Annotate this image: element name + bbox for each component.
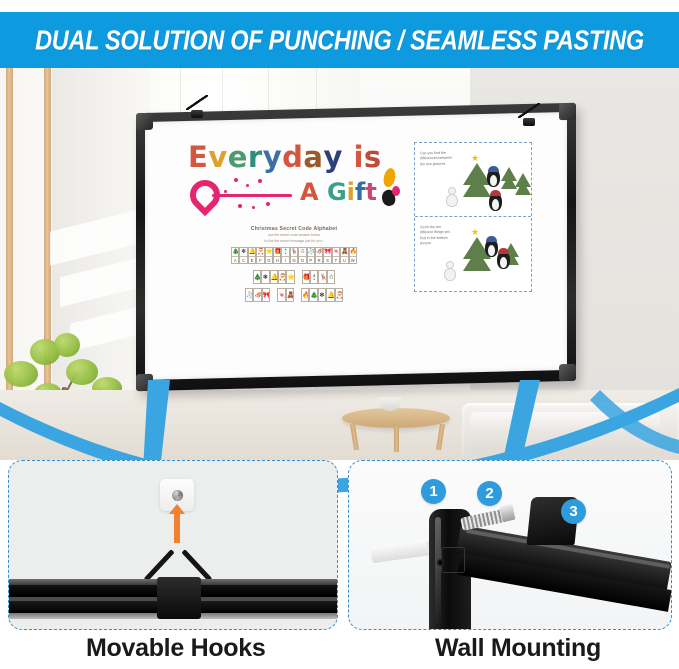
alphabet-picture-icon: 🕯: [282, 248, 288, 256]
alphabet-letter: T: [333, 256, 339, 263]
alphabet-code-cell: ❄C: [239, 247, 247, 264]
screw-icon: [172, 490, 183, 501]
snowman-body: [446, 194, 458, 207]
alphabet-word-rows: 🎄❄🔔🎅⭐🎁🕯🦌☃🧦🛷🎀🍬🧸🔥🎄❄🔔🎅: [218, 270, 370, 302]
plant-foliage: [54, 333, 80, 357]
alphabet-picture-icon: ☃: [299, 248, 305, 256]
alphabet-word-cell: 🕯: [310, 270, 318, 284]
alphabet-word-cell: 🍬: [277, 288, 285, 302]
alphabet-word-group: 🧦🛷🎀: [245, 288, 270, 302]
penguin-belly: [492, 199, 499, 210]
alphabet-picture-icon: 🎄: [232, 248, 238, 256]
headline-letter: v: [208, 140, 227, 174]
step-badge-3: 3: [561, 499, 586, 524]
alphabet-picture-icon: 🔔: [249, 248, 255, 256]
headline-letter: a: [303, 140, 323, 174]
alphabet-word-group: 🍬🧸: [277, 288, 294, 302]
snowman-icon: [445, 187, 459, 207]
screw-head: [499, 504, 515, 522]
wall-plug-icon: [370, 539, 434, 563]
headline-letter: A: [300, 178, 319, 206]
alphabet-worksheet: Christmas Secret Code Alphabet use the s…: [218, 226, 370, 318]
caption-movable-hooks: Movable Hooks: [86, 634, 265, 663]
up-arrow-icon: [174, 513, 180, 543]
alphabet-word-group: 🎁🕯🦌☃: [302, 270, 336, 284]
alphabet-code-cell: 🍬T: [332, 247, 340, 264]
penguin-belly: [500, 257, 507, 268]
swirl-dot: [234, 178, 238, 182]
alphabet-picture-icon: 🦌: [291, 248, 297, 256]
triangle-wire-hook-icon: [147, 543, 209, 581]
headline-letter: i: [347, 178, 355, 206]
alphabet-picture-icon: 🎀: [324, 248, 330, 256]
swirl-dot: [246, 184, 249, 187]
alphabet-subtitle-1: use the secret code breaker below: [218, 233, 370, 238]
headline-line-1: Everyday is: [188, 140, 403, 174]
alphabet-word-row: 🎄❄🔔🎅⭐🎁🕯🦌☃: [218, 270, 370, 284]
caption-wall-mounting: Wall Mounting: [435, 634, 601, 663]
snowman-body: [444, 268, 456, 281]
alphabet-word-cell: 🎀: [262, 288, 270, 302]
alphabet-letter: E: [249, 256, 255, 263]
headline-letter: t: [365, 178, 376, 206]
penguin-icon: [497, 251, 510, 269]
alphabet-letter: I: [282, 256, 288, 263]
sliding-hook-block: [157, 577, 201, 619]
panel-movable-hooks: [8, 460, 338, 630]
headline-letter: E: [188, 140, 208, 174]
alphabet-word-cell: 🔔: [326, 288, 334, 302]
alphabet-word-cell: 🎄: [309, 288, 317, 302]
headline-letter: r: [248, 140, 263, 174]
whiteboard: Everyday is A Gift: [136, 108, 576, 386]
coffee-table-top: [342, 408, 450, 428]
header-banner: DUAL SOLUTION OF PUNCHING / SEAMLESS PAS…: [0, 12, 679, 68]
christmas-tree-icon: [515, 173, 531, 195]
swirl-line: [212, 194, 292, 197]
alphabet-letter: N: [291, 256, 297, 263]
penguin-worksheet: Can you find the differences between the…: [414, 142, 532, 292]
flourish-drop: [382, 167, 397, 188]
alphabet-picture-icon: 🧸: [341, 248, 347, 256]
infographic-page: DUAL SOLUTION OF PUNCHING / SEAMLESS PAS…: [0, 0, 679, 669]
alphabet-letter: W: [350, 256, 356, 263]
alphabet-picture-icon: 🎅: [257, 248, 263, 256]
alphabet-letter: O: [299, 256, 305, 263]
penguin-instruction-top: Can you find the differences between the…: [420, 151, 454, 168]
alphabet-word-cell: 🎄: [253, 270, 261, 284]
swirl-dot: [266, 202, 270, 206]
artwork-headline: Everyday is A Gift: [188, 140, 403, 218]
alphabet-picture-icon: 🍬: [333, 248, 339, 256]
alphabet-code-cell: 🧦P: [307, 247, 315, 264]
alphabet-letter: G: [266, 256, 272, 263]
alphabet-picture-icon: 🧦: [308, 248, 314, 256]
headline-letter: y: [323, 140, 342, 174]
step-badge-2: 2: [477, 481, 502, 506]
penguin-hat: [486, 236, 497, 242]
alphabet-word-cell: 🎅: [335, 288, 343, 302]
alphabet-word-cell: 🧦: [245, 288, 253, 302]
alphabet-letter: H: [274, 256, 280, 263]
alphabet-letter: U: [341, 256, 347, 263]
headline-letter: e: [228, 140, 248, 174]
swirl-dot: [252, 206, 255, 209]
alphabet-code-cell: 🔔E: [248, 247, 256, 264]
whiteboard-content: Everyday is A Gift: [136, 108, 576, 386]
mount-hole-icon: [437, 559, 444, 566]
penguin-worksheet-bottom: Circle the ten different things you find…: [415, 217, 531, 291]
alphabet-subtitle-2: to find the secret message just for you …: [218, 239, 370, 244]
alphabet-word-row: 🧦🛷🎀🍬🧸🔥🎄❄🔔🎅: [218, 288, 370, 302]
corner-notch: [441, 547, 465, 573]
headline-letter: [319, 178, 327, 206]
alphabet-word-group: 🎄❄🔔🎅⭐: [253, 270, 295, 284]
headline-letter: G: [327, 178, 347, 206]
penguin-icon: [489, 193, 502, 211]
alphabet-word-cell: 🔥: [301, 288, 309, 302]
alphabet-picture-icon: 🎁: [274, 248, 280, 256]
alphabet-letter: P: [308, 256, 314, 263]
table-leg: [394, 426, 399, 452]
alphabet-letter: R: [316, 256, 322, 263]
alphabet-word-cell: 🧸: [286, 288, 294, 302]
alphabet-code-cell: 🧸U: [340, 247, 348, 264]
penguin-belly: [488, 245, 495, 256]
plant-foliage: [66, 359, 98, 385]
alphabet-picture-icon: ❄: [240, 248, 246, 256]
alphabet-word-cell: 🎁: [302, 270, 310, 284]
tree-face: [472, 172, 482, 178]
penguin-instruction-bottom: Circle the ten different things you find…: [420, 225, 454, 247]
alphabet-title: Christmas Secret Code Alphabet: [218, 226, 370, 232]
alphabet-code-cell: 🎄A: [231, 247, 239, 264]
tree-tier: [515, 181, 531, 195]
headline-letter: i: [353, 140, 363, 174]
alphabet-word-cell: ❄: [261, 270, 269, 284]
alphabet-code-cell: ☃O: [298, 247, 306, 264]
penguin-hat: [488, 166, 499, 172]
headline-letter: y: [263, 140, 282, 174]
alphabet-code-cell: 🛷R: [315, 247, 323, 264]
frame-post-highlight: [435, 517, 441, 627]
star-icon: ★: [471, 154, 479, 163]
alphabet-code-cell: 🔥W: [349, 247, 357, 264]
alphabet-code-cell: 🕯I: [281, 247, 289, 264]
swirl-decoration-icon: [190, 176, 292, 214]
alphabet-picture-icon: ⭐: [266, 248, 272, 256]
headline-letter: f: [355, 178, 365, 206]
star-icon: ★: [471, 228, 479, 237]
alphabet-picture-icon: 🔥: [350, 248, 356, 256]
alphabet-word-cell: ⭐: [286, 270, 294, 284]
alphabet-letter: C: [240, 256, 246, 263]
alphabet-word-group: 🔥🎄❄🔔🎅: [301, 288, 343, 302]
headline-letter: d: [282, 140, 303, 174]
swirl-dot: [258, 179, 262, 183]
penguin-belly: [490, 175, 497, 186]
exclamation-flourish-icon: [380, 168, 402, 214]
alphabet-word-cell: ❄: [318, 288, 326, 302]
swirl-dot: [224, 190, 227, 193]
step-badge-1: 1: [421, 479, 446, 504]
snowman-icon: [443, 261, 457, 281]
headline-line-2: A Gift: [300, 178, 377, 206]
alphabet-picture-icon: 🛷: [316, 248, 322, 256]
flourish-accent: [392, 186, 400, 196]
alphabet-code-cell: 🎀S: [323, 247, 331, 264]
penguin-hat: [498, 248, 509, 254]
plant-foliage: [4, 361, 38, 387]
alphabet-letter: F: [257, 256, 263, 263]
alphabet-word-cell: 🎅: [278, 270, 286, 284]
alphabet-code-row: 🎄A❄C🔔E🎅F⭐G🎁H🕯I🦌N☃O🧦P🛷R🎀S🍬T🧸U🔥W: [218, 247, 370, 264]
alphabet-word-cell: 🔔: [270, 270, 278, 284]
alphabet-letter: A: [232, 256, 238, 263]
penguin-hat: [490, 190, 501, 196]
alphabet-code-cell: 🎅F: [256, 247, 264, 264]
alphabet-code-cell: ⭐G: [265, 247, 273, 264]
alphabet-code-cell: 🦌N: [290, 247, 298, 264]
alphabet-word-cell: 🛷: [253, 288, 261, 302]
headline-letter: [343, 140, 354, 174]
swirl-dot: [238, 204, 242, 208]
alphabet-word-cell: 🦌: [318, 270, 326, 284]
panel-wall-mounting: 1 2 3: [348, 460, 672, 630]
sofa-cushion: [470, 412, 660, 432]
banner-title: DUAL SOLUTION OF PUNCHING / SEAMLESS PAS…: [35, 24, 644, 56]
alphabet-code-cell: 🎁H: [273, 247, 281, 264]
alphabet-word-cell: ☃: [327, 270, 335, 284]
penguin-icon: [487, 169, 500, 187]
alphabet-letter: S: [324, 256, 330, 263]
penguin-worksheet-top: Can you find the differences between the…: [415, 143, 531, 217]
